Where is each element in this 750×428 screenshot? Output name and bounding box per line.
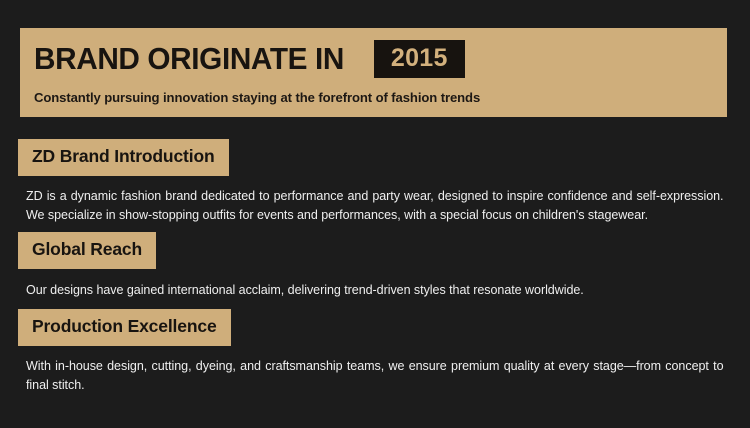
hero-subtitle: Constantly pursuing innovation staying a…	[34, 90, 717, 105]
section-body-production-excellence: With in-house design, cutting, dyeing, a…	[26, 357, 723, 395]
section-tag-brand-introduction: ZD Brand Introduction	[18, 139, 229, 176]
page-title: BRAND ORIGINATE IN	[34, 43, 344, 74]
section-brand-introduction: ZD Brand Introduction ZD is a dynamic fa…	[0, 139, 750, 225]
section-production-excellence: Production Excellence With in-house desi…	[0, 309, 750, 395]
section-body-brand-introduction: ZD is a dynamic fashion brand dedicated …	[26, 187, 723, 225]
brand-info-page: BRAND ORIGINATE IN 2015 Constantly pursu…	[0, 0, 750, 428]
hero-title-row: BRAND ORIGINATE IN 2015	[34, 37, 727, 79]
year-badge: 2015	[374, 40, 465, 78]
section-global-reach: Global Reach Our designs have gained int…	[0, 232, 750, 300]
section-tag-production-excellence: Production Excellence	[18, 309, 231, 346]
section-body-global-reach: Our designs have gained international ac…	[26, 281, 723, 300]
section-tag-global-reach: Global Reach	[18, 232, 156, 269]
hero-banner: BRAND ORIGINATE IN 2015 Constantly pursu…	[20, 28, 727, 117]
